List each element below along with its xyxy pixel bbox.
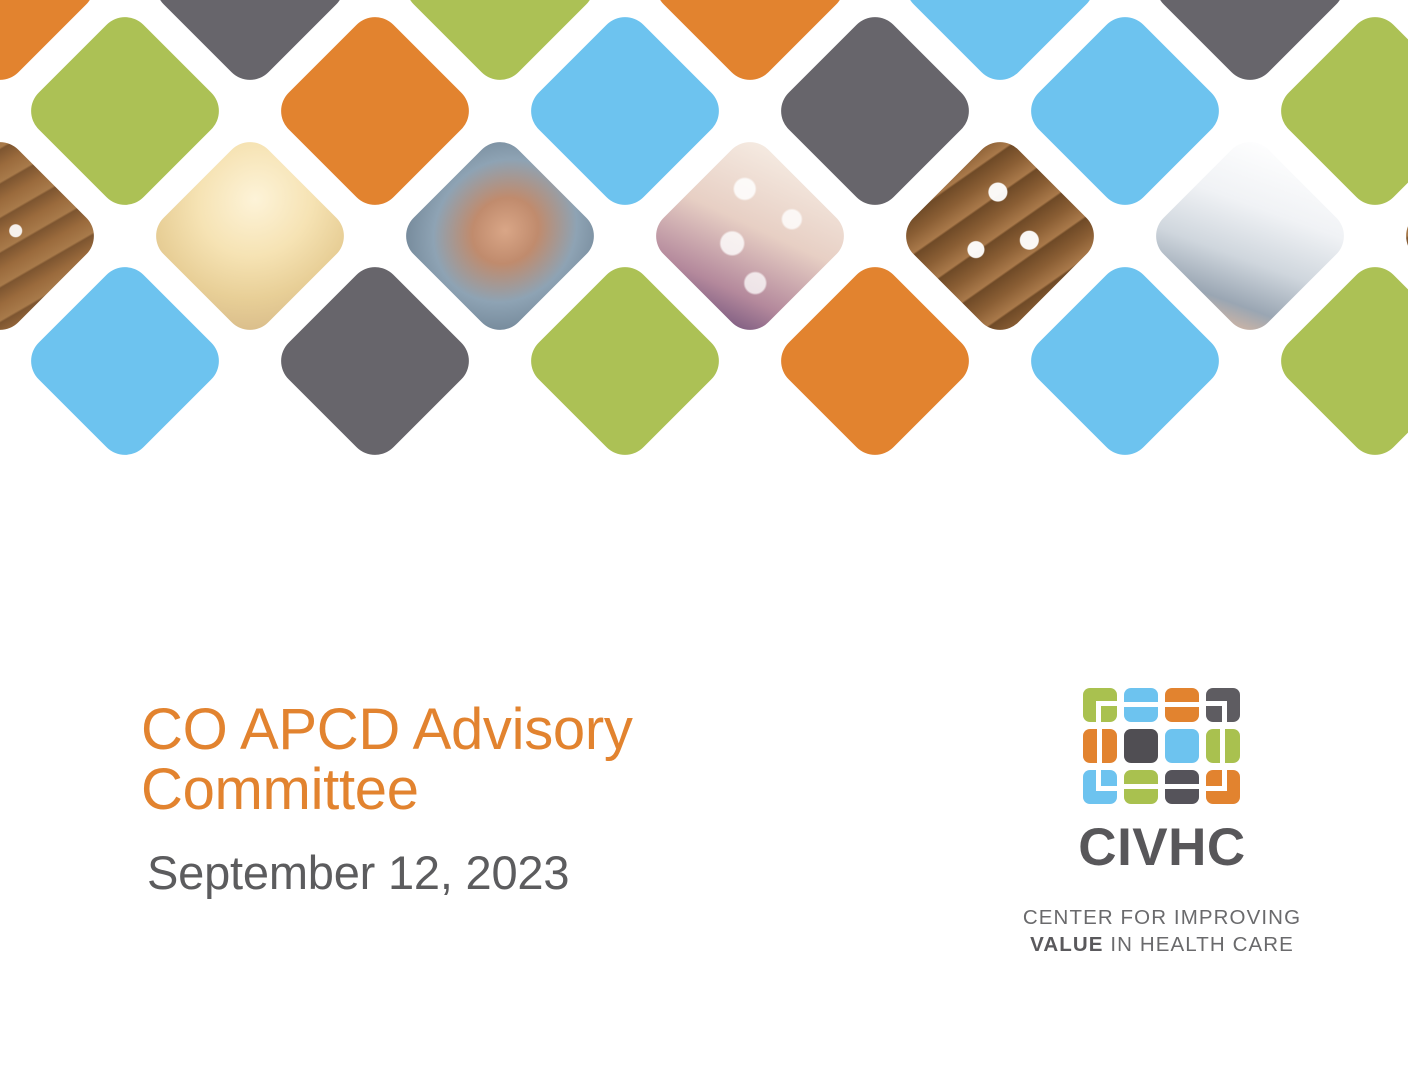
presentation-slide: CO APCD Advisory Committee September 12,… bbox=[0, 0, 1408, 1088]
logo-cell-cutout bbox=[1096, 701, 1117, 706]
logo-cell-cutout bbox=[1165, 702, 1199, 707]
logo-cell-cutout bbox=[1206, 786, 1227, 791]
title-block: CO APCD Advisory Committee September 12,… bbox=[141, 700, 841, 900]
logo-grid-cell bbox=[1206, 729, 1240, 763]
logo-cell-cutout bbox=[1097, 729, 1102, 763]
logo-grid-cell bbox=[1124, 729, 1158, 763]
civhc-logo: CIVHC CENTER FOR IMPROVING VALUE IN HEAL… bbox=[1012, 688, 1312, 959]
logo-grid-cell bbox=[1124, 688, 1158, 722]
logo-grid-cell bbox=[1206, 770, 1240, 804]
civhc-tagline-line2: VALUE IN HEALTH CARE bbox=[1012, 931, 1312, 958]
civhc-wordmark: CIVHC bbox=[1012, 821, 1312, 874]
logo-grid-cell bbox=[1124, 770, 1158, 804]
civhc-logo-mark bbox=[1083, 688, 1241, 810]
logo-cell-cutout bbox=[1124, 702, 1158, 707]
logo-grid-cell bbox=[1083, 770, 1117, 804]
logo-cell-cutout bbox=[1124, 784, 1158, 789]
logo-cell-cutout bbox=[1165, 784, 1199, 789]
logo-cell-cutout bbox=[1206, 701, 1227, 706]
logo-grid-cell bbox=[1165, 729, 1199, 763]
logo-grid-cell bbox=[1165, 688, 1199, 722]
civhc-tagline-line1: CENTER FOR IMPROVING bbox=[1012, 904, 1312, 931]
civhc-tagline-rest: IN HEALTH CARE bbox=[1104, 933, 1294, 956]
civhc-tagline: CENTER FOR IMPROVING VALUE IN HEALTH CAR… bbox=[1012, 904, 1312, 959]
page-title: CO APCD Advisory Committee bbox=[141, 700, 841, 819]
civhc-tagline-value: VALUE bbox=[1030, 933, 1103, 956]
logo-grid-cell bbox=[1083, 688, 1117, 722]
logo-grid-cell bbox=[1165, 770, 1199, 804]
logo-grid-cell bbox=[1206, 688, 1240, 722]
diamond-pattern-banner bbox=[0, 0, 1408, 580]
logo-cell-cutout bbox=[1220, 729, 1225, 763]
slide-date: September 12, 2023 bbox=[147, 845, 841, 900]
logo-cell-cutout bbox=[1096, 786, 1117, 791]
logo-grid-cell bbox=[1083, 729, 1117, 763]
